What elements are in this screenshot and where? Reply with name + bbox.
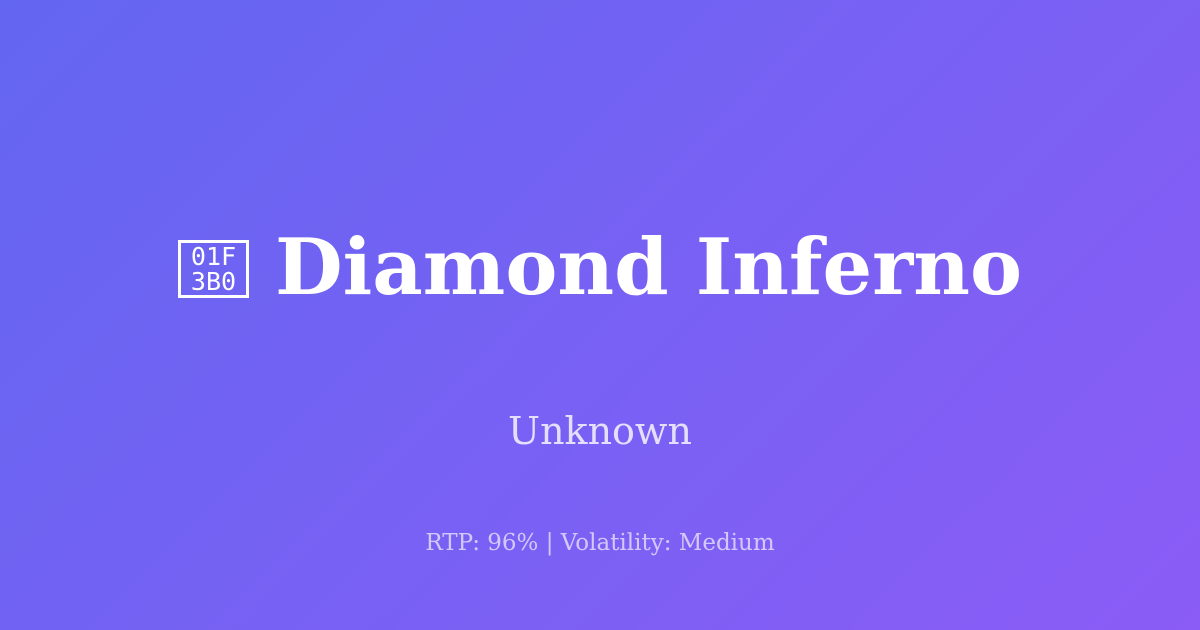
tofu-codepoint-upper: 01F — [191, 244, 236, 269]
title-row: 01F 3B0 Diamond Inferno — [178, 175, 1022, 361]
game-stats-footer: RTP: 96% | Volatility: Medium — [0, 530, 1200, 558]
slot-machine-icon: 01F 3B0 — [178, 240, 249, 298]
game-preview-card: 01F 3B0 Diamond Inferno Unknown RTP: 96%… — [0, 0, 1200, 630]
tofu-codepoint-lower: 3B0 — [191, 269, 236, 294]
page-title: Diamond Inferno — [275, 227, 1022, 309]
provider-subtitle: Unknown — [508, 409, 692, 455]
